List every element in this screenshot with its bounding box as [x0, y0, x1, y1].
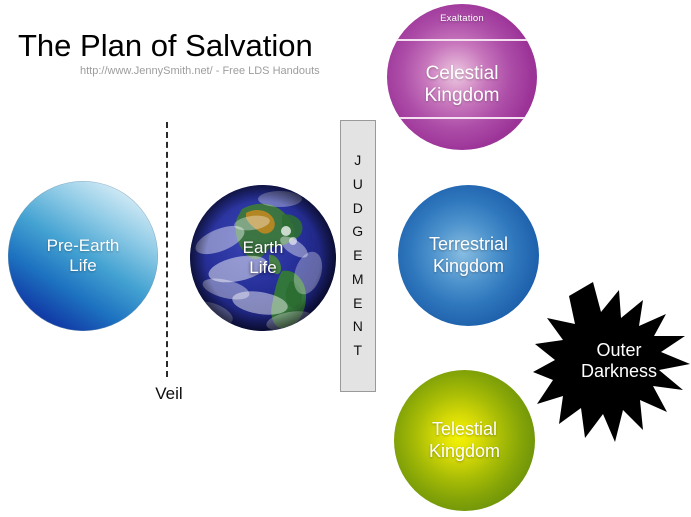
stage-earth-life-label: Earth Life: [190, 185, 336, 331]
judgement-letter: U: [353, 174, 364, 196]
veil-dashed-line: [166, 122, 168, 377]
judgement-letter: E: [353, 293, 363, 315]
terrestrial-kingdom-line1: Terrestrial: [429, 234, 508, 255]
plan-of-salvation-diagram: The Plan of Salvation http://www.JennySm…: [0, 0, 691, 517]
stage-pre-earth-life: Pre-Earth Life: [8, 181, 158, 331]
outer-darkness-starburst-icon: [533, 278, 691, 444]
page-subtitle: http://www.JennySmith.net/ - Free LDS Ha…: [80, 65, 320, 77]
page-title: The Plan of Salvation: [18, 28, 313, 64]
pre-earth-life-line2: Life: [69, 256, 96, 276]
judgement-letter: D: [353, 198, 364, 220]
judgement-letter: T: [353, 340, 362, 362]
terrestrial-kingdom-line2: Kingdom: [433, 256, 504, 277]
celestial-divider-bottom: [387, 117, 537, 119]
judgement-letter: N: [353, 316, 364, 338]
judgement-letter: E: [353, 245, 363, 267]
telestial-kingdom-line1: Telestial: [432, 419, 497, 440]
judgement-letter: J: [354, 150, 362, 172]
celestial-divider-top: [387, 39, 537, 41]
destination-celestial-kingdom: Exaltation Celestial Kingdom: [387, 4, 537, 150]
earth-life-line2: Life: [249, 258, 276, 278]
pre-earth-life-line1: Pre-Earth: [47, 236, 120, 256]
judgement-letter: G: [352, 221, 363, 243]
earth-life-line1: Earth: [243, 238, 284, 258]
celestial-kingdom-line2: Kingdom: [425, 85, 500, 107]
judgement-letter: M: [352, 269, 364, 291]
destination-terrestrial-kingdom: Terrestrial Kingdom: [398, 185, 539, 326]
destination-telestial-kingdom: Telestial Kingdom: [394, 370, 535, 511]
telestial-kingdom-line2: Kingdom: [429, 441, 500, 462]
veil-label: Veil: [140, 384, 198, 404]
judgement-bar: J U D G E M E N T: [340, 120, 376, 392]
exaltation-banner: Exaltation: [387, 13, 537, 24]
celestial-kingdom-line1: Celestial: [425, 63, 500, 85]
